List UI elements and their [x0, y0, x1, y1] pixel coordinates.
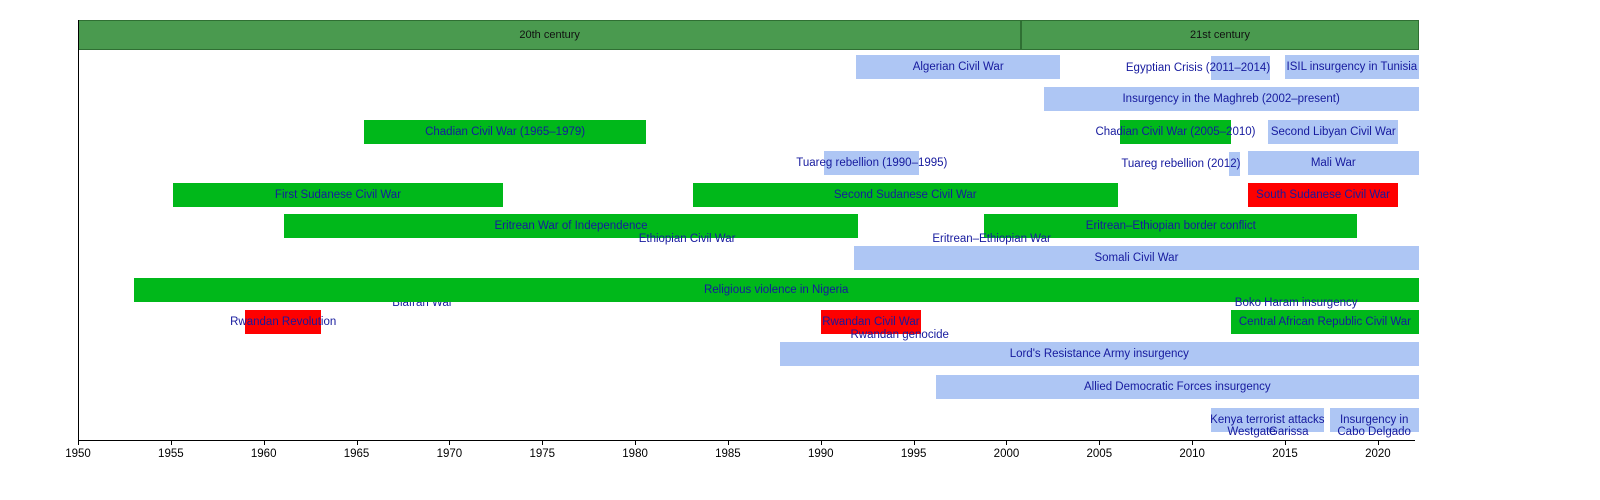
x-axis-tick-label: 1950 [65, 448, 91, 460]
timeline-bar[interactable] [780, 342, 1419, 366]
timeline-chart: 20th century21st centuryAlgerian Civil W… [0, 0, 1600, 500]
timeline-bar[interactable] [693, 183, 1118, 207]
x-axis-tick-label: 2000 [994, 448, 1020, 460]
century-band-label: 20th century [519, 29, 580, 41]
x-axis-tick [264, 440, 265, 445]
timeline-bar[interactable] [936, 375, 1419, 399]
timeline-bar[interactable] [134, 278, 1419, 302]
timeline-bar-label: Tuareg rebellion (2012) [1121, 152, 1240, 176]
x-axis-tick-label: 2020 [1365, 448, 1391, 460]
timeline-bar[interactable] [245, 310, 321, 334]
x-axis-line [78, 440, 1415, 441]
timeline-bar[interactable] [1211, 408, 1324, 432]
plot-area: 20th century21st centuryAlgerian Civil W… [0, 0, 1600, 500]
x-axis-tick-label: 1965 [344, 448, 370, 460]
x-axis-tick-label: 1990 [808, 448, 834, 460]
timeline-bar[interactable] [1248, 183, 1398, 207]
timeline-bar[interactable] [984, 214, 1357, 238]
timeline-bar[interactable] [824, 151, 919, 175]
x-axis-tick [1378, 440, 1379, 445]
y-axis-line [78, 20, 79, 440]
timeline-bar[interactable] [1231, 310, 1419, 334]
x-axis-tick-label: 1955 [158, 448, 184, 460]
timeline-bar[interactable] [284, 214, 858, 238]
timeline-bar[interactable] [1229, 152, 1240, 176]
x-axis-tick-label: 1985 [715, 448, 741, 460]
century-band-1: 20th century [78, 20, 1021, 50]
x-axis-tick [1099, 440, 1100, 445]
timeline-bar[interactable] [173, 183, 504, 207]
timeline-bar[interactable] [1211, 56, 1270, 80]
x-axis-tick [914, 440, 915, 445]
x-axis-tick [1285, 440, 1286, 445]
timeline-bar[interactable] [1268, 120, 1398, 144]
x-axis-tick [542, 440, 543, 445]
timeline-bar[interactable] [1285, 55, 1419, 79]
x-axis-tick [357, 440, 358, 445]
x-axis-tick-label: 1980 [622, 448, 648, 460]
timeline-bar[interactable] [821, 310, 921, 334]
x-axis-tick [78, 440, 79, 445]
timeline-bar[interactable] [1120, 120, 1231, 144]
timeline-bar[interactable] [1044, 87, 1419, 111]
timeline-bar[interactable] [1248, 151, 1419, 175]
x-axis-tick-label: 1960 [251, 448, 277, 460]
timeline-bar[interactable] [856, 55, 1060, 79]
x-axis-tick [728, 440, 729, 445]
century-band-2: 21st century [1021, 20, 1418, 50]
century-band-label: 21st century [1190, 29, 1250, 41]
x-axis-tick [635, 440, 636, 445]
x-axis-tick [821, 440, 822, 445]
x-axis-tick-label: 1995 [901, 448, 927, 460]
x-axis-tick [1006, 440, 1007, 445]
timeline-bar[interactable] [364, 120, 646, 144]
x-axis-tick [171, 440, 172, 445]
x-axis-tick-label: 1970 [437, 448, 463, 460]
x-axis-tick-label: 2005 [1087, 448, 1113, 460]
x-axis-tick-label: 2015 [1272, 448, 1298, 460]
timeline-bar[interactable] [1330, 408, 1419, 432]
x-axis-tick [449, 440, 450, 445]
x-axis-tick [1192, 440, 1193, 445]
timeline-bar[interactable] [854, 246, 1419, 270]
x-axis-tick-label: 2010 [1179, 448, 1205, 460]
x-axis-tick-label: 1975 [529, 448, 555, 460]
